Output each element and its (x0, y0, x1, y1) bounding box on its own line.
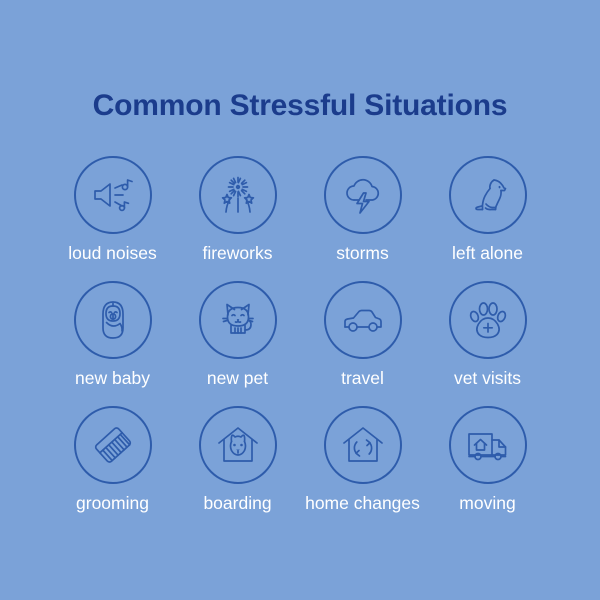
sitting-dog-icon (464, 171, 512, 219)
grid-item-label: fireworks (202, 245, 272, 263)
icon-circle (199, 281, 277, 359)
grid-item-new-pet[interactable]: new pet (175, 281, 300, 406)
grid-item-label: boarding (203, 495, 271, 513)
icon-circle (324, 156, 402, 234)
icon-circle (449, 406, 527, 484)
grid-item-home-changes[interactable]: home changes (300, 406, 425, 531)
stressful-situations-infographic: Common Stressful Situations loud noises (0, 0, 600, 600)
moving-truck-icon (464, 421, 512, 469)
grid-item-label: new baby (75, 370, 150, 388)
icon-circle (74, 281, 152, 359)
grid-item-label: moving (459, 495, 515, 513)
grid-item-moving[interactable]: moving (425, 406, 550, 531)
grid-item-left-alone[interactable]: left alone (425, 156, 550, 281)
icon-circle (74, 406, 152, 484)
speaker-music-notes-icon (89, 171, 137, 219)
icon-circle (199, 156, 277, 234)
grid-item-new-baby[interactable]: new baby (50, 281, 175, 406)
icon-circle (74, 156, 152, 234)
grid-item-label: left alone (452, 245, 523, 263)
sitting-cat-icon (214, 296, 262, 344)
grid-item-boarding[interactable]: boarding (175, 406, 300, 531)
icon-circle (449, 156, 527, 234)
icon-circle (199, 406, 277, 484)
grid-item-fireworks[interactable]: fireworks (175, 156, 300, 281)
house-refresh-icon (339, 421, 387, 469)
house-dog-icon (214, 421, 262, 469)
grid-item-travel[interactable]: travel (300, 281, 425, 406)
grid-item-label: vet visits (454, 370, 521, 388)
grid-item-label: travel (341, 370, 384, 388)
icon-circle (324, 281, 402, 359)
icon-grid: loud noises (50, 156, 550, 531)
grid-item-grooming[interactable]: grooming (50, 406, 175, 531)
cloud-lightning-icon (339, 171, 387, 219)
grid-item-label: new pet (207, 370, 268, 388)
grid-item-label: loud noises (68, 245, 157, 263)
comb-icon (89, 421, 137, 469)
swaddled-baby-icon (89, 296, 137, 344)
icon-circle (449, 281, 527, 359)
icon-circle (324, 406, 402, 484)
grid-item-vet-visits[interactable]: vet visits (425, 281, 550, 406)
grid-item-label: home changes (305, 495, 420, 513)
grid-item-storms[interactable]: storms (300, 156, 425, 281)
grid-item-loud-noises[interactable]: loud noises (50, 156, 175, 281)
car-icon (339, 296, 387, 344)
firework-burst-icon (214, 171, 262, 219)
page-title: Common Stressful Situations (93, 88, 508, 124)
paw-medical-cross-icon (464, 296, 512, 344)
grid-item-label: storms (336, 245, 389, 263)
grid-item-label: grooming (76, 495, 149, 513)
